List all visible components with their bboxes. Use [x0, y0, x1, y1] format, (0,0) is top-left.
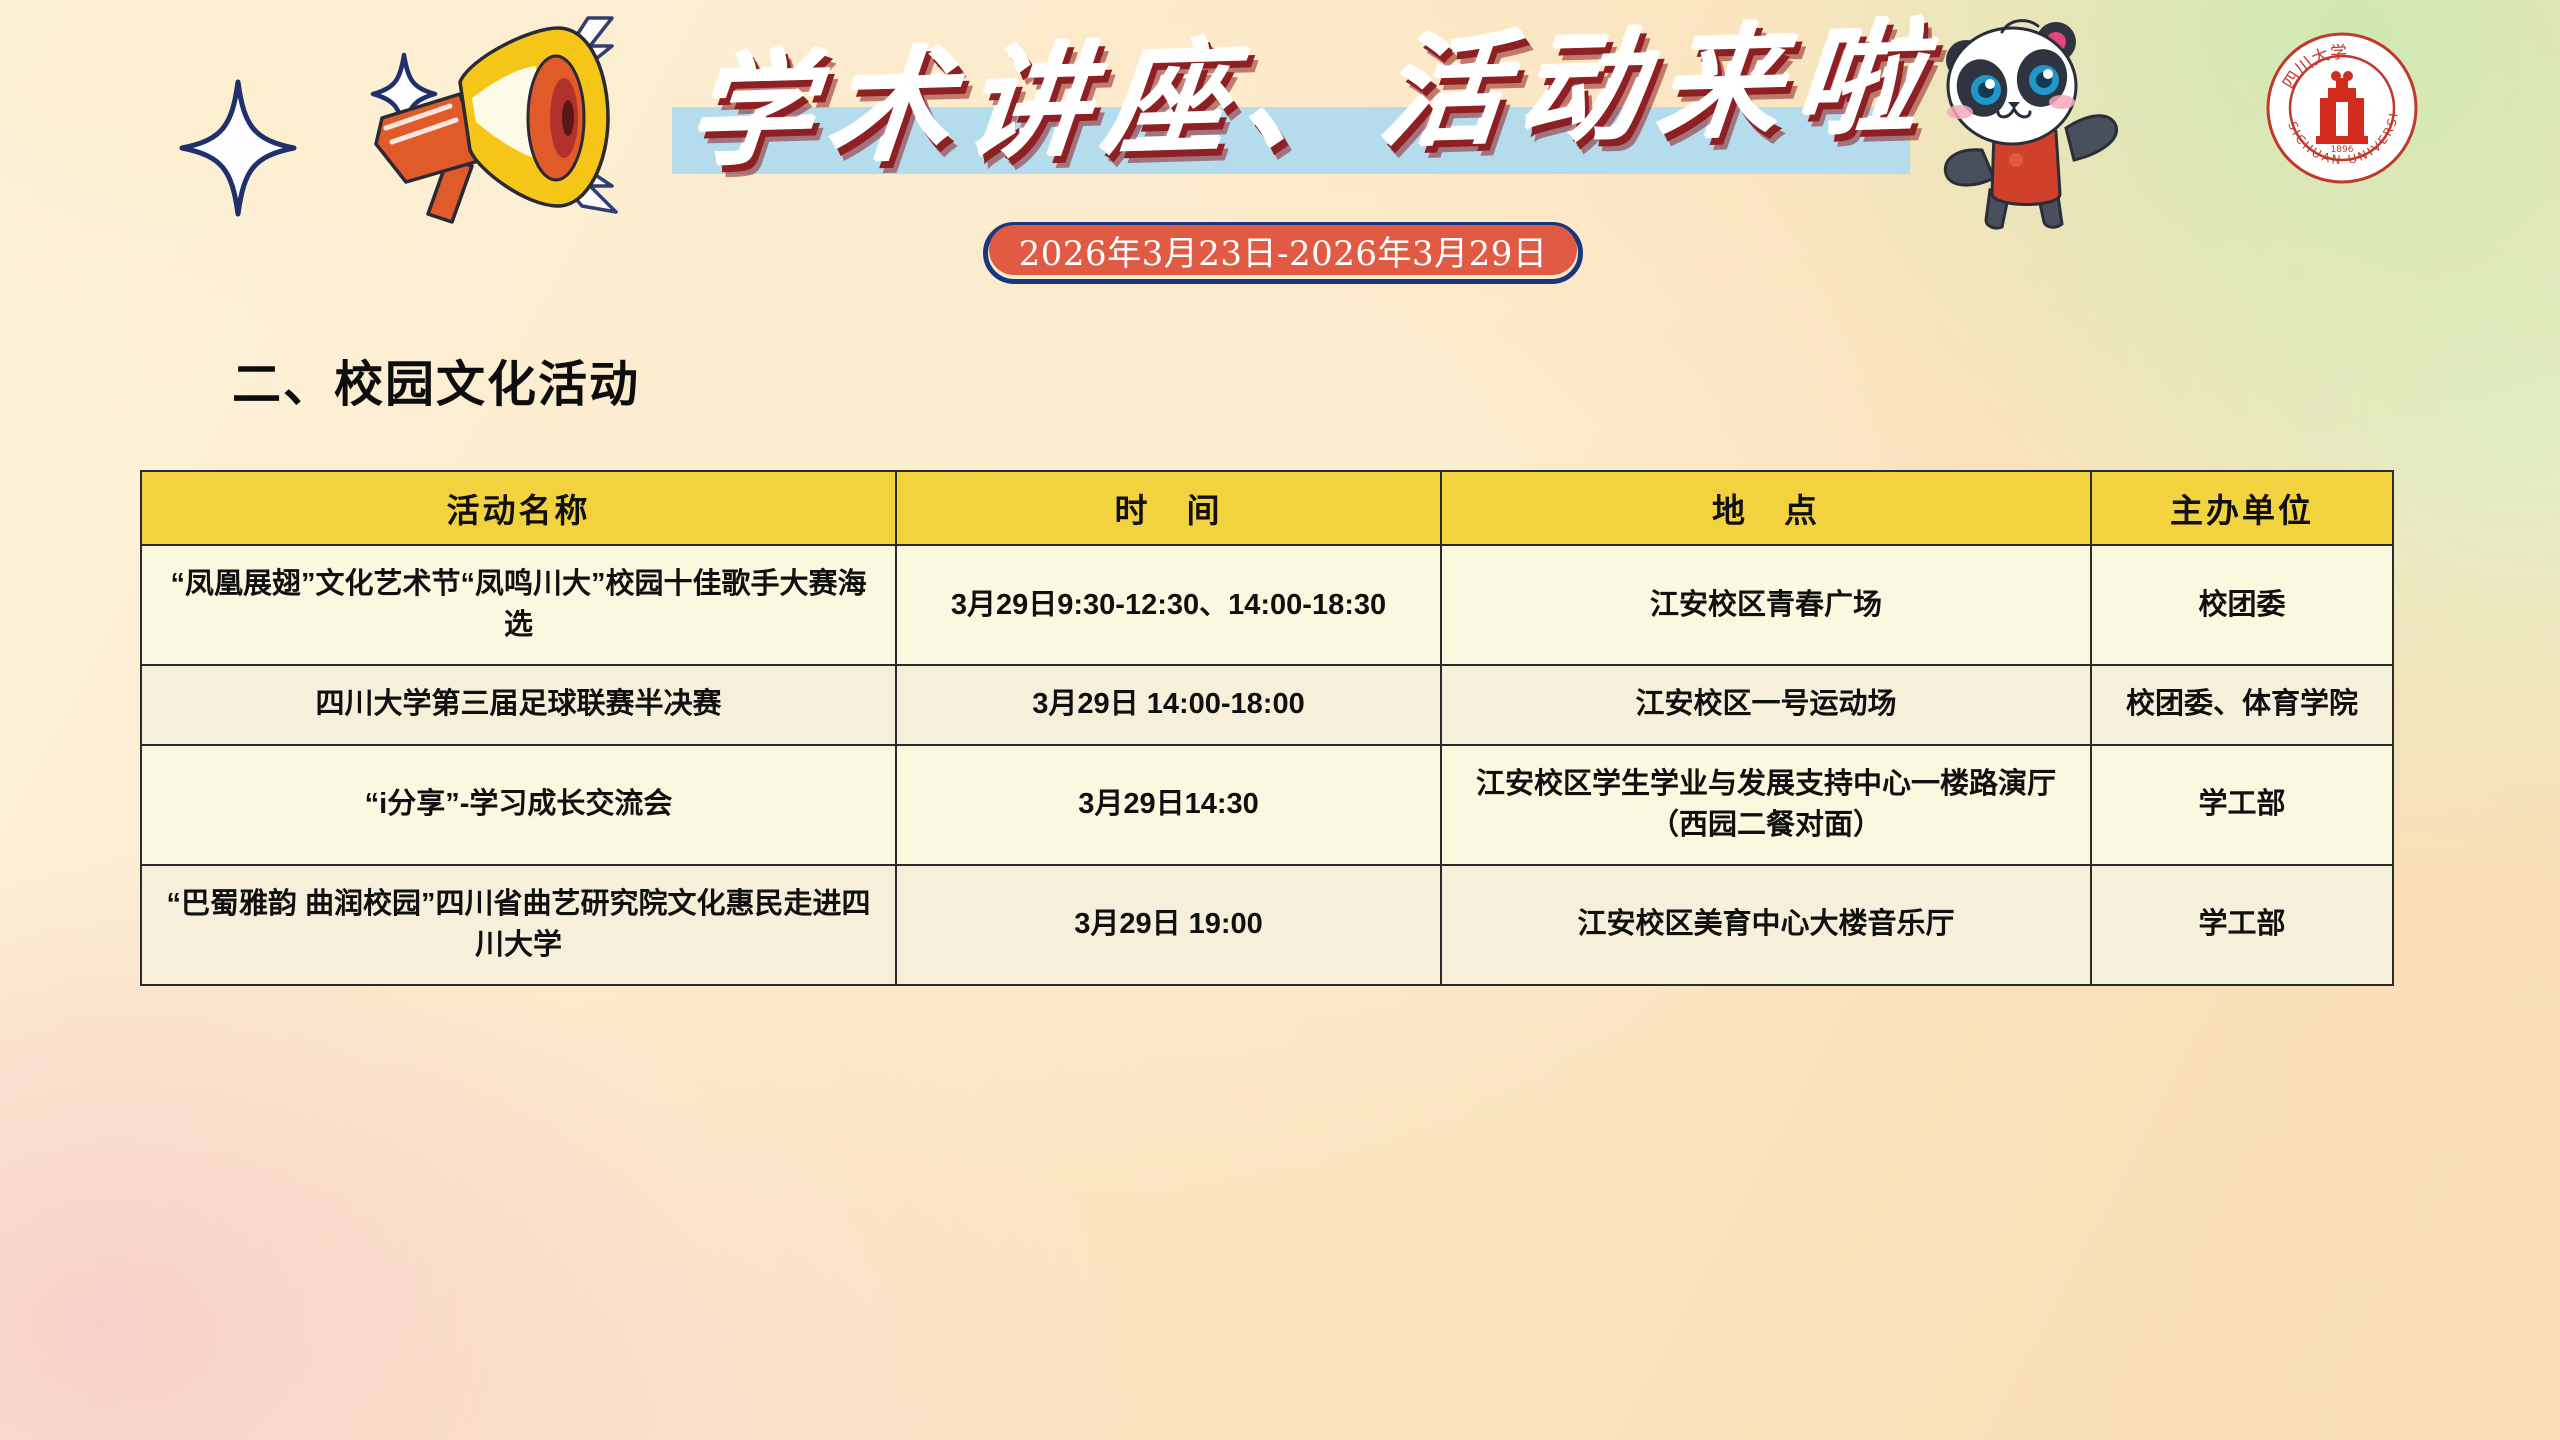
cell-activity: “巴蜀雅韵 曲润校园”四川省曲艺研究院文化惠民走进四川大学 [141, 865, 896, 985]
sparkle-icon-large [178, 78, 298, 218]
cell-organizer: 校团委、体育学院 [2091, 665, 2393, 744]
schedule-table-wrapper: 活动名称 时 间 地 点 主办单位 “凤凰展翅”文化艺术节“凤鸣川大”校园十佳歌… [140, 470, 2392, 986]
table-row: “i分享”-学习成长交流会 3月29日14:30 江安校区学生学业与发展支持中心… [141, 745, 2393, 865]
cell-activity: 四川大学第三届足球联赛半决赛 [141, 665, 896, 744]
date-range-badge: 2026年3月23日-2026年3月29日 [983, 222, 1583, 284]
cell-activity: “i分享”-学习成长交流会 [141, 745, 896, 865]
cell-organizer: 学工部 [2091, 745, 2393, 865]
cell-time: 3月29日 14:00-18:00 [896, 665, 1441, 744]
column-header-place: 地 点 [1441, 471, 2091, 545]
cell-place: 江安校区青春广场 [1441, 545, 2091, 665]
cell-organizer: 校团委 [2091, 545, 2393, 665]
cell-place: 江安校区美育中心大楼音乐厅 [1441, 865, 2091, 985]
logo-year: 1896 [2331, 145, 2354, 155]
cell-time: 3月29日 19:00 [896, 865, 1441, 985]
cell-place: 江安校区一号运动场 [1441, 665, 2091, 744]
cell-time: 3月29日14:30 [896, 745, 1441, 865]
table-row: 四川大学第三届足球联赛半决赛 3月29日 14:00-18:00 江安校区一号运… [141, 665, 2393, 744]
table-header-row: 活动名称 时 间 地 点 主办单位 [141, 471, 2393, 545]
cell-activity: “凤凰展翅”文化艺术节“凤鸣川大”校园十佳歌手大赛海选 [141, 545, 896, 665]
table-row: “凤凰展翅”文化艺术节“凤鸣川大”校园十佳歌手大赛海选 3月29日9:30-12… [141, 545, 2393, 665]
column-header-time: 时 间 [896, 471, 1441, 545]
column-header-activity: 活动名称 [141, 471, 896, 545]
sichuan-university-logo-icon: 四川大学 SICHUAN UNIVERSITY 1896 [2262, 28, 2422, 188]
cell-time: 3月29日9:30-12:30、14:00-18:30 [896, 545, 1441, 665]
cell-organizer: 学工部 [2091, 865, 2393, 985]
table-row: “巴蜀雅韵 曲润校园”四川省曲艺研究院文化惠民走进四川大学 3月29日 19:0… [141, 865, 2393, 985]
panda-mascot-icon [1898, 8, 2148, 233]
schedule-table: 活动名称 时 间 地 点 主办单位 “凤凰展翅”文化艺术节“凤鸣川大”校园十佳歌… [140, 470, 2394, 986]
poster-canvas: 学术讲座、活动来啦 [0, 0, 2560, 1440]
column-header-organizer: 主办单位 [2091, 471, 2393, 545]
date-badge-label: 2026年3月23日-2026年3月29日 [989, 225, 1577, 275]
megaphone-icon [320, 10, 660, 230]
section-heading: 二、校园文化活动 [232, 345, 640, 416]
cell-place: 江安校区学生学业与发展支持中心一楼路演厅（西园二餐对面） [1441, 745, 2091, 865]
